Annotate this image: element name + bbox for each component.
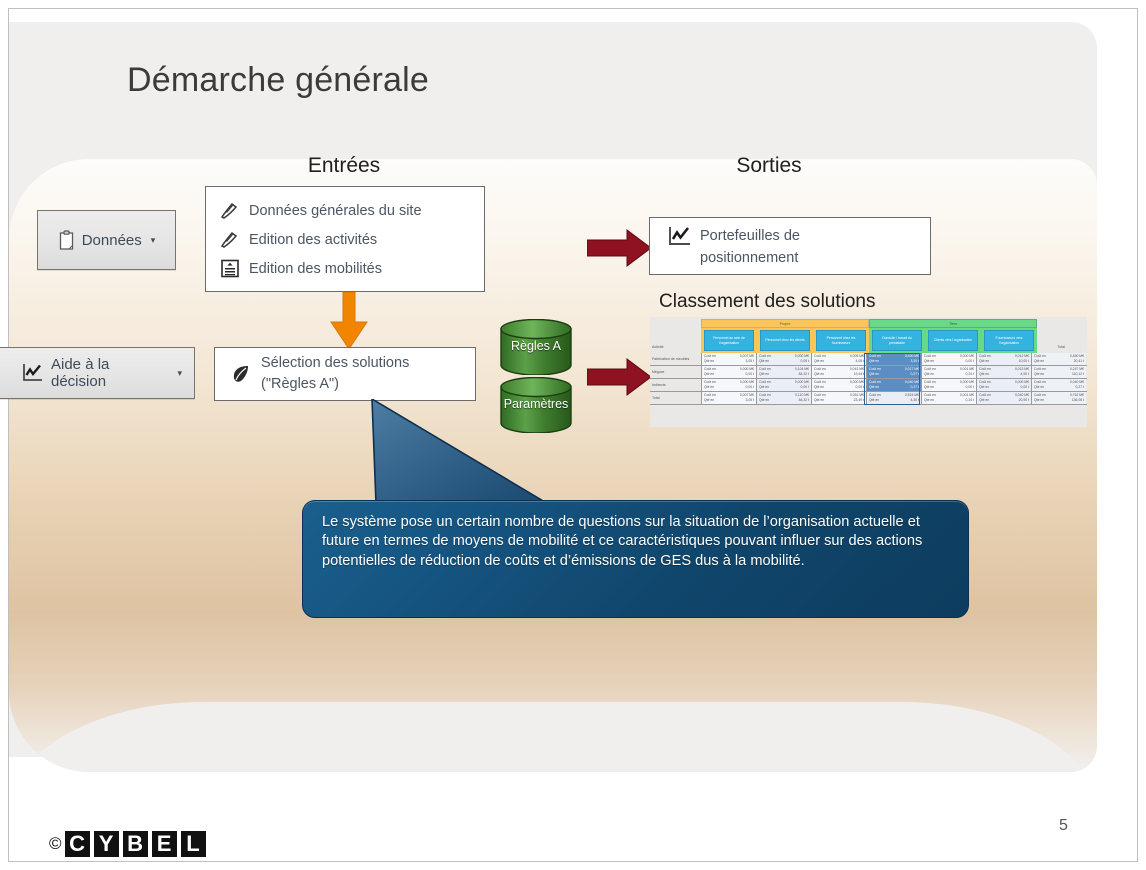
leaf-icon — [231, 364, 251, 384]
column-header: Personnel chez les fournisseurs — [816, 330, 866, 351]
table-cell: Coût en0,041 M€Qté en19,44 t — [811, 366, 866, 378]
entry-item-label: Données générales du site — [249, 203, 422, 219]
table-cell: Coût en0,040 M€Qté en0,27 t — [866, 379, 921, 391]
copyright-icon: © — [49, 834, 62, 854]
chart-line-icon — [668, 226, 692, 248]
heading-classement: Classement des solutions — [659, 291, 876, 313]
table-cell: Coût en0,524 M€Qté en4,30 t — [866, 392, 921, 404]
orange-down-arrow-icon — [329, 292, 369, 350]
table-cell: Coût en0,000 M€Qté en0,00 t — [921, 379, 976, 391]
table-cell: Coût en0,400 M€Qté en3,30 t — [866, 353, 921, 365]
table-cell: Coût en0,012 M€Qté en10,00 t — [976, 353, 1031, 365]
spreadsheet-group-headers: Propre Tiers — [701, 319, 1037, 328]
clipboard-icon — [58, 230, 75, 251]
table-cell: Coût en0,040 M€Qté en20,90 t — [976, 392, 1031, 404]
table-cell: Coût en0,013 M€Qté en4,90 t — [976, 366, 1031, 378]
table-cell: Coût en0,000 M€Qté en0,00 t — [701, 379, 756, 391]
selection-line-1: Sélection des solutions — [261, 355, 409, 371]
table-cell: Coût en0,005 M€Qté en4,05 t — [811, 353, 866, 365]
table-cell: Coût en0,051 M€Qté en23,49 t — [811, 392, 866, 404]
table-cell: Coût en0,000 M€Qté en0,05 t — [756, 353, 811, 365]
table-cell: Coût en0,000 M€Qté en0,00 t — [756, 379, 811, 391]
table-row: TotalCoût en0,007 M€Qté en3,05 tCoût en0… — [650, 392, 1087, 405]
red-right-arrow-icon-classement — [587, 358, 653, 396]
entry-item-edition-mobilites[interactable]: Edition des mobilités — [220, 254, 484, 283]
callout-text: Le système pose un certain nombre de que… — [322, 513, 952, 571]
table-row: Fabrication de meublesCoût en0,007 M€Qté… — [650, 353, 1087, 366]
selection-box: Sélection des solutions ("Règles A") — [214, 347, 476, 401]
group-header-tiers: Tiers — [869, 319, 1037, 328]
portfolio-line-2: positionnement — [700, 250, 798, 266]
table-cell: Coût en0,450 M€Qté en20,41 t — [1031, 353, 1086, 365]
column-header: Domicile / travail du prestataire — [872, 330, 922, 351]
aide-decision-button[interactable]: Aide à la décision ▾ — [0, 347, 195, 399]
table-cell: Coût en0,762 M€Qté en136,08 t — [1031, 392, 1086, 404]
page-number: 5 — [1059, 817, 1068, 835]
pencil-edit-icon — [220, 230, 240, 249]
table-cell: Coût en0,104 M€Qté en84,32 t — [756, 366, 811, 378]
logo-letter: C — [65, 831, 90, 857]
table-row: NégoceCoût en0,000 M€Qté en0,00 tCoût en… — [650, 366, 1087, 379]
donnees-button-label: Données — [82, 232, 142, 249]
database-regles-a[interactable]: Règles A — [499, 319, 573, 375]
table-cell: Coût en0,017 M€Qté en0,27 t — [866, 366, 921, 378]
row-label: Indirects — [650, 379, 701, 391]
portfolio-box: Portefeuilles de positionnement — [649, 217, 931, 275]
spreadsheet-rows: Fabrication de meublesCoût en0,007 M€Qté… — [650, 353, 1087, 405]
logo-letter: L — [181, 831, 206, 857]
chevron-down-icon: ▾ — [151, 235, 156, 246]
column-header: Fournisseurs vers l'organisation — [984, 330, 1034, 351]
logo-letter: E — [152, 831, 177, 857]
logo-letter: B — [123, 831, 148, 857]
callout-bubble: Le système pose un certain nombre de que… — [302, 500, 969, 618]
entry-item-edition-activites[interactable]: Edition des activités — [220, 225, 484, 254]
table-cell: Coût en0,247 M€Qté en110,12 t — [1031, 366, 1086, 378]
table-cell: Coût en0,000 M€Qté en0,00 t — [811, 379, 866, 391]
row-label: Négoce — [650, 366, 701, 378]
red-right-arrow-icon-portfolio — [587, 229, 653, 267]
spreadsheet-column-headers: Personnel au sein de l'organisation Pers… — [701, 328, 1037, 353]
page-title: Démarche générale — [127, 61, 429, 100]
entries-box: Données générales du site Edition des ac… — [205, 186, 485, 292]
column-header: Clients vers l'organisation — [928, 330, 978, 351]
table-cell: Coût en0,007 M€Qté en3,05 t — [701, 392, 756, 404]
table-cell: Coût en0,040 M€Qté en0,27 t — [1031, 379, 1086, 391]
table-cell: Coût en0,001 M€Qté en0,24 t — [921, 366, 976, 378]
table-row: IndirectsCoût en0,000 M€Qté en0,00 tCoût… — [650, 379, 1087, 392]
aide-decision-button-label: Aide à la décision — [51, 356, 168, 390]
heading-sorties: Sorties — [649, 154, 889, 178]
portfolio-line-1: Portefeuilles de — [700, 228, 800, 244]
chart-line-icon — [22, 363, 44, 383]
column-header: Personnel chez les clients — [760, 330, 810, 351]
chevron-down-icon: ▾ — [177, 368, 182, 379]
logo-letter: Y — [94, 831, 119, 857]
entry-item-donnees-generales[interactable]: Données générales du site — [220, 196, 484, 225]
id-card-icon — [220, 259, 240, 278]
total-column-header: Total — [1057, 345, 1065, 349]
slide-frame: Démarche générale Entrées Sorties Donnée… — [8, 8, 1138, 862]
table-cell: Coût en0,000 M€Qté en0,00 t — [701, 366, 756, 378]
table-cell: Coût en0,000 M€Qté en0,00 t — [976, 379, 1031, 391]
table-cell: Coût en0,007 M€Qté en3,05 t — [701, 353, 756, 365]
entry-item-label: Edition des mobilités — [249, 261, 382, 277]
spreadsheet-image[interactable]: Propre Tiers Personnel au sein de l'orga… — [650, 317, 1087, 427]
group-header-propre: Propre — [701, 319, 869, 328]
entry-item-label: Edition des activités — [249, 232, 377, 248]
heading-entrees: Entrées — [214, 154, 474, 178]
row-label: Total — [650, 392, 701, 404]
row-label: Fabrication de meubles — [650, 353, 701, 365]
table-cell: Coût en0,000 M€Qté en0,00 t — [921, 353, 976, 365]
donnees-button[interactable]: Données ▾ — [37, 210, 176, 270]
selection-line-2: ("Règles A") — [261, 376, 339, 392]
column-header: Personnel au sein de l'organisation — [704, 330, 754, 351]
pencil-edit-icon — [220, 201, 240, 220]
table-cell: Coût en0,001 M€Qté en0,24 t — [921, 392, 976, 404]
row-label-header: Activité — [652, 345, 664, 349]
table-cell: Coût en0,110 M€Qté en84,32 t — [756, 392, 811, 404]
cybel-logo: © C Y B E L — [49, 831, 208, 857]
